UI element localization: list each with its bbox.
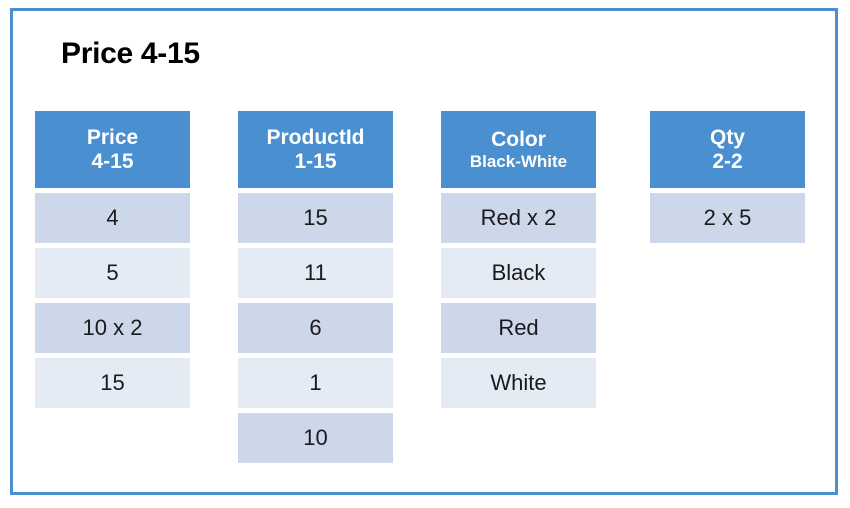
column-header-range: 2-2 bbox=[712, 150, 742, 174]
column-header-range: 1-15 bbox=[294, 150, 336, 174]
table-cell[interactable]: Black bbox=[441, 248, 596, 298]
table-cell[interactable]: 15 bbox=[35, 358, 190, 408]
slide-border-frame: Price 4-15 Price4-154510 x 215ProductId1… bbox=[10, 8, 838, 495]
column-header[interactable]: ColorBlack-White bbox=[441, 111, 596, 188]
column-header-title: Price bbox=[87, 126, 138, 150]
table-cell[interactable]: Red bbox=[441, 303, 596, 353]
table-cell[interactable]: 4 bbox=[35, 193, 190, 243]
column-header-range: 4-15 bbox=[91, 150, 133, 174]
data-column: Qty2-22 x 5 bbox=[650, 111, 805, 243]
table-cell[interactable]: 11 bbox=[238, 248, 393, 298]
data-column: Price4-154510 x 215 bbox=[35, 111, 190, 408]
table-cell[interactable]: 10 bbox=[238, 413, 393, 463]
page-title: Price 4-15 bbox=[61, 37, 200, 71]
column-header-range: Black-White bbox=[470, 152, 567, 171]
table-cell[interactable]: 10 x 2 bbox=[35, 303, 190, 353]
column-header[interactable]: ProductId1-15 bbox=[238, 111, 393, 188]
table-cell[interactable]: 1 bbox=[238, 358, 393, 408]
data-column: ColorBlack-WhiteRed x 2BlackRedWhite bbox=[441, 111, 596, 408]
table-cell[interactable]: 15 bbox=[238, 193, 393, 243]
column-header-title: Color bbox=[491, 128, 546, 152]
table-cell[interactable]: 2 x 5 bbox=[650, 193, 805, 243]
column-header-title: ProductId bbox=[267, 126, 365, 150]
table-cell[interactable]: 6 bbox=[238, 303, 393, 353]
data-column: ProductId1-1515116110 bbox=[238, 111, 393, 463]
column-header[interactable]: Price4-15 bbox=[35, 111, 190, 188]
table-cell[interactable]: Red x 2 bbox=[441, 193, 596, 243]
table-cell[interactable]: White bbox=[441, 358, 596, 408]
table-cell[interactable]: 5 bbox=[35, 248, 190, 298]
column-header-title: Qty bbox=[710, 126, 745, 150]
slide-canvas: Price 4-15 Price4-154510 x 215ProductId1… bbox=[0, 0, 850, 508]
column-header[interactable]: Qty2-2 bbox=[650, 111, 805, 188]
